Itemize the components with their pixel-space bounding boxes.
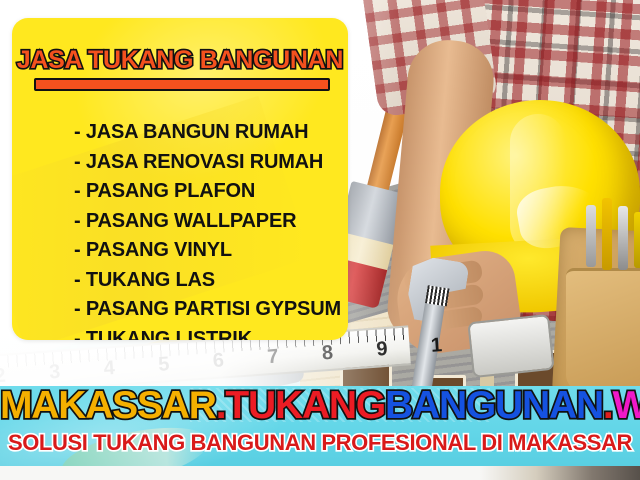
url-dot-1: .: [216, 386, 226, 427]
banner-tagline: SOLUSI TUKANG BANGUNAN PROFESIONAL DI MA…: [0, 430, 640, 456]
website-banner: MAKASSAR.TUKANGBANGUNAN.WEB.ID SOLUSI TU…: [0, 386, 640, 466]
services-card: JASA TUKANG BANGUNAN - JASA BANGUN RUMAH…: [12, 18, 348, 340]
service-item: - TUKANG LAS: [74, 266, 348, 296]
belt-tool: [602, 198, 612, 270]
url-dot-2: .: [603, 386, 613, 427]
url-part-bangunan: BANGUNAN: [385, 386, 603, 427]
url-part-web-id: WEB.ID: [613, 386, 640, 427]
advertisement-banner: 2 3 4 5 6 7 8 9 1 2 JASA TUKANG BANGUNAN…: [0, 0, 640, 480]
service-item: - PASANG PARTISI GYPSUM: [74, 295, 348, 325]
service-item: - JASA RENOVASI RUMAH: [74, 148, 348, 178]
belt-tool: [618, 206, 628, 270]
footer-image-edge: [480, 466, 640, 480]
website-url[interactable]: MAKASSAR.TUKANGBANGUNAN.WEB.ID: [0, 386, 640, 428]
card-title-underline: [34, 78, 330, 91]
service-item: - PASANG VINYL: [74, 236, 348, 266]
wrench-marking: [425, 285, 450, 306]
tape-measure-case: [467, 314, 554, 378]
url-part-tukang: TUKANG: [225, 386, 385, 427]
service-item: - JASA BANGUN RUMAH: [74, 118, 348, 148]
belt-tool: [586, 205, 596, 267]
belt-tool: [634, 212, 640, 268]
tool-belt-pocket: [566, 268, 640, 391]
service-item: - PASANG PLAFON: [74, 177, 348, 207]
service-item: - PASANG WALLPAPER: [74, 207, 348, 237]
services-list: - JASA BANGUN RUMAH - JASA RENOVASI RUMA…: [34, 118, 348, 340]
card-title: JASA TUKANG BANGUNAN: [12, 46, 348, 75]
url-part-makassar: MAKASSAR: [0, 386, 216, 427]
service-item: - TUKANG LISTRIK: [74, 325, 348, 341]
